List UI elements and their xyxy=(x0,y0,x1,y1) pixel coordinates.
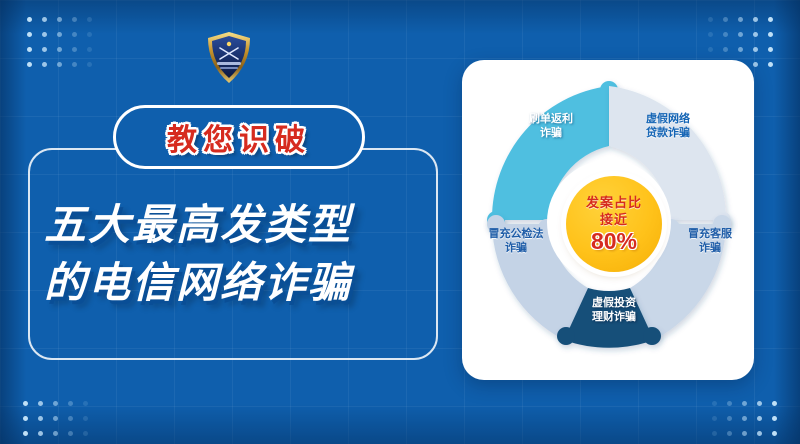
bottom-vignette xyxy=(0,404,800,444)
center-percentage-value: 80% xyxy=(591,229,637,253)
top-vignette xyxy=(0,0,800,34)
headline-text-block: 五大最高发类型 的电信网络诈骗 xyxy=(44,196,434,312)
center-label-line-2: 接近 xyxy=(600,212,628,228)
poster-canvas: 教您识破 五大最高发类型 的电信网络诈骗 xyxy=(0,0,800,444)
center-label-line-1: 发案占比 xyxy=(586,195,642,211)
center-statistic-badge: 发案占比 接近 80% xyxy=(566,176,662,272)
headline-pill-badge: 教您识破 xyxy=(113,105,365,169)
headline-pill-text: 教您识破 xyxy=(167,115,311,159)
dot-grid-top-left xyxy=(22,12,97,72)
headline-line-1: 五大最高发类型 xyxy=(44,196,434,254)
police-shield-emblem-icon xyxy=(205,31,253,85)
dot-grid-bottom-left xyxy=(18,396,93,444)
headline-line-2: 的电信网络诈骗 xyxy=(44,254,434,312)
dot-grid-bottom-right xyxy=(707,396,782,444)
